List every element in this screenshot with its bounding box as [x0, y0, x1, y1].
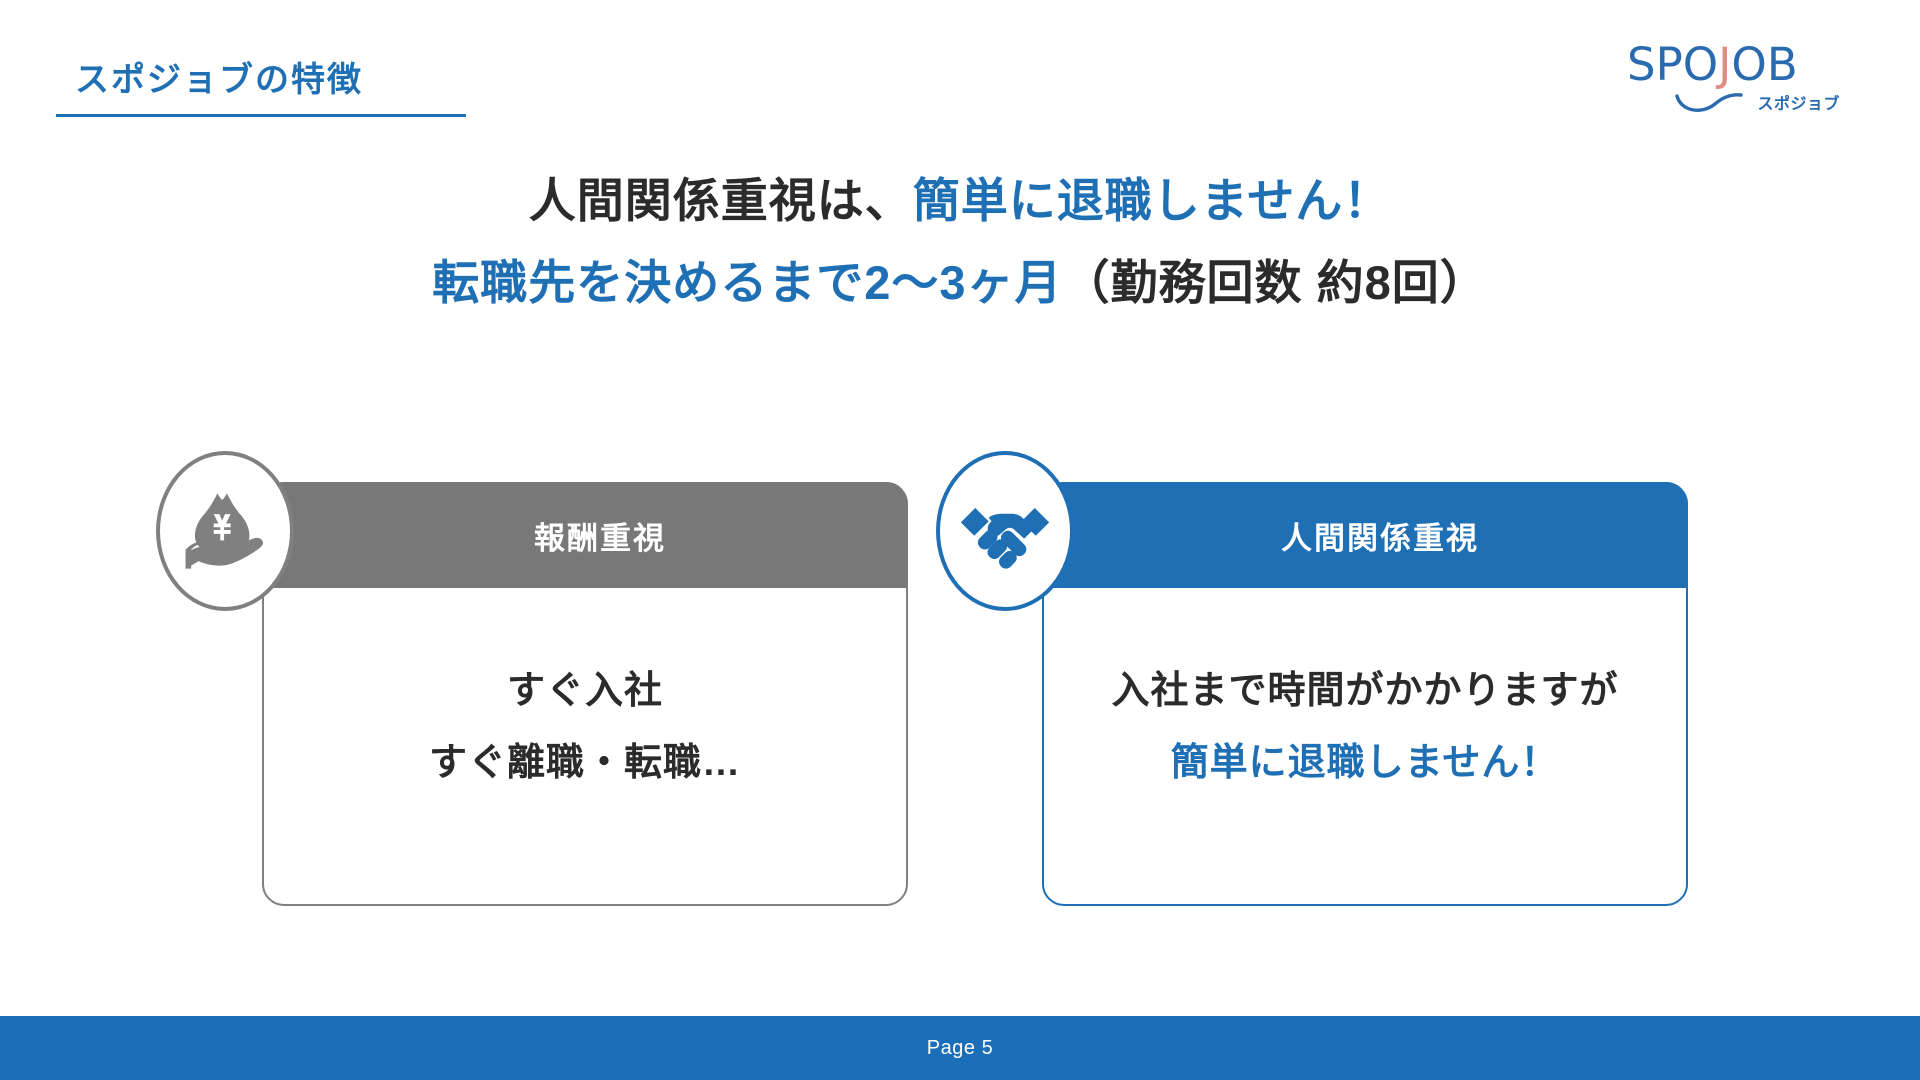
page-title: スポジョブの特徴: [75, 52, 363, 101]
money-bag-in-hand-glyph: [178, 484, 272, 578]
spojob-logo: SPOJOB スポジョブ: [1627, 40, 1842, 118]
headline-1-dark: 人間関係重視は、: [529, 174, 913, 227]
headline-line-2: 転職先を決めるまで2〜3ヶ月（勤務回数 約8回）: [0, 242, 1920, 324]
page-number-label: Page 5: [927, 1037, 993, 1060]
title-underline: [56, 114, 466, 117]
handshake-glyph: [957, 483, 1053, 579]
logo-subtitle: スポジョブ: [1757, 90, 1840, 114]
card-relationship-header: 人間関係重視: [1042, 482, 1688, 588]
headline-block: 人間関係重視は、簡単に退職しません！ 転職先を決めるまで2〜3ヶ月（勤務回数 約…: [0, 160, 1920, 324]
logo-text-ob: OB: [1731, 38, 1797, 91]
logo-text-spo: SPO: [1627, 38, 1718, 91]
card-relationship-content: 入社まで時間がかかりますが 簡単に退職しません！: [1042, 588, 1688, 906]
card-reward-header-label: 報酬重視: [504, 513, 666, 558]
money-bag-in-hand-icon: [156, 451, 294, 611]
handshake-icon: [936, 451, 1074, 611]
logo-swoosh-icon: [1675, 90, 1753, 116]
footer-bar: Page 5: [0, 1016, 1920, 1080]
headline-1-blue: 簡単に退職しません！: [913, 174, 1392, 227]
card-reward-content: すぐ入社 すぐ離職・転職…: [262, 588, 908, 906]
headline-line-1: 人間関係重視は、簡単に退職しません！: [0, 160, 1920, 242]
card-reward-line-1: すぐ入社: [507, 655, 663, 727]
headline-2-blue: 転職先を決めるまで2〜3ヶ月: [432, 256, 1062, 309]
card-reward-focus: 報酬重視 すぐ入社 すぐ離職・転職…: [262, 482, 908, 906]
card-relationship-header-label: 人間関係重視: [1251, 513, 1479, 558]
card-relationship-line-1: 入社まで時間がかかりますが: [1111, 655, 1618, 727]
card-reward-header: 報酬重視: [262, 482, 908, 588]
card-relationship-focus: 人間関係重視 入社まで時間がかかりますが 簡単に退職しません！: [1042, 482, 1688, 906]
headline-2-dark: （勤務回数 約8回）: [1063, 256, 1488, 309]
card-reward-line-2: すぐ離職・転職…: [429, 727, 741, 799]
logo-wordmark: SPOJOB: [1627, 40, 1798, 90]
logo-text-j: J: [1718, 38, 1731, 91]
card-relationship-line-2: 簡単に退職しません！: [1171, 727, 1560, 799]
